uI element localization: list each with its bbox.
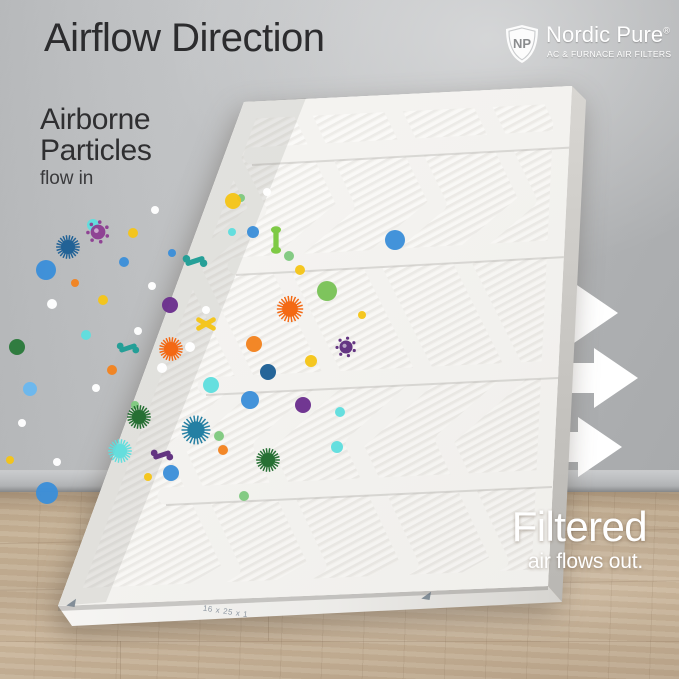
particle-dot	[151, 206, 159, 214]
brand-name-text: Nordic Pure	[546, 22, 663, 47]
particle-dot	[385, 230, 405, 250]
particle-rod	[117, 343, 139, 354]
particle-spiky	[277, 296, 303, 322]
particle-dot	[47, 299, 57, 309]
airborne-caption-line1: Airborne	[40, 103, 150, 136]
particle-dot	[6, 456, 14, 464]
particle-spiky	[108, 439, 132, 463]
particle-dot	[162, 297, 178, 313]
particle-dot	[305, 355, 317, 367]
particle-dot	[241, 391, 259, 409]
particle-dot	[128, 228, 138, 238]
particle-dot	[239, 491, 249, 501]
brand-logo[interactable]: NP Nordic Pure® AC & FURNACE AIR FILTERS	[504, 22, 664, 66]
particle-rod	[183, 255, 208, 267]
brand-tagline: AC & FURNACE AIR FILTERS	[547, 49, 671, 59]
particle-dot	[81, 330, 91, 340]
particle-dot	[214, 431, 224, 441]
particle-dot	[225, 193, 241, 209]
particle-spiky	[127, 405, 151, 429]
particle-dot	[9, 339, 25, 355]
particle-dot	[260, 364, 276, 380]
airborne-caption-line3: flow in	[40, 168, 93, 190]
particle-dot	[358, 311, 366, 319]
particle-dot	[36, 482, 58, 504]
airborne-particles-layer	[0, 0, 679, 679]
particle-dot	[53, 458, 61, 466]
airborne-caption-line2: Particles	[40, 135, 151, 166]
brand-registered-mark: ®	[663, 26, 670, 36]
particle-spiky	[256, 448, 280, 472]
particle-germ	[335, 337, 355, 358]
particle-spiky	[159, 337, 183, 361]
brand-name: Nordic Pure®	[546, 22, 670, 48]
particle-dot	[92, 384, 100, 392]
particle-bacillus	[271, 226, 281, 254]
particle-dot	[335, 407, 345, 417]
particle-dot	[107, 365, 117, 375]
particle-spiky	[56, 235, 80, 259]
particle-dot	[247, 226, 259, 238]
particle-rod	[151, 450, 173, 461]
particle-dot	[163, 465, 179, 481]
particle-dot	[295, 265, 305, 275]
particle-dot	[168, 249, 176, 257]
particle-dot	[157, 363, 167, 373]
shield-icon: NP	[504, 24, 540, 64]
particle-spiky	[181, 416, 210, 445]
particle-dot	[202, 306, 210, 314]
particle-dot	[36, 260, 56, 280]
page-title: Airflow Direction	[44, 16, 324, 61]
particle-dot	[71, 279, 79, 287]
particle-dot	[284, 251, 294, 261]
particle-dot	[18, 419, 26, 427]
particle-dot	[228, 228, 236, 236]
particle-dot	[98, 295, 108, 305]
particle-dot	[331, 441, 343, 453]
filtered-caption-sub: air flows out.	[528, 550, 643, 574]
particles-svg	[0, 0, 679, 679]
particle-dot	[295, 397, 311, 413]
particle-dot	[263, 188, 271, 196]
particle-dot	[134, 327, 142, 335]
particle-dot	[119, 257, 129, 267]
particle-dot	[218, 445, 228, 455]
particle-dot	[144, 473, 152, 481]
filtered-caption: Filtered	[512, 503, 647, 551]
particle-dot	[185, 342, 195, 352]
airborne-caption: Airborne Particles	[40, 104, 151, 166]
particle-dot	[246, 336, 262, 352]
particle-dot	[203, 377, 219, 393]
product-illustration: ◢ ◢ 16 x 25 x 1 Airflow Direction Airbor…	[0, 0, 679, 679]
particle-dot	[317, 281, 337, 301]
shield-monogram: NP	[513, 36, 531, 51]
particle-dot	[23, 382, 37, 396]
particle-dot	[148, 282, 156, 290]
particle-pollen	[195, 316, 216, 331]
